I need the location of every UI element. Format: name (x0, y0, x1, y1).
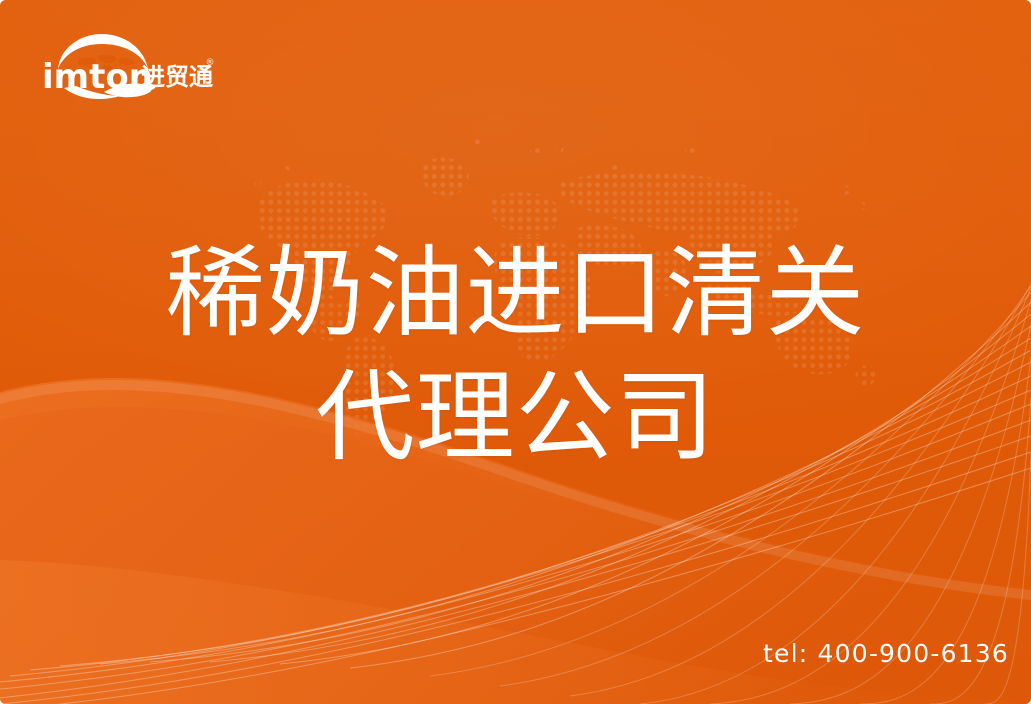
headline-line-2: 代理公司 (0, 356, 1031, 480)
logo-svg: imton 进贸通 ® (38, 26, 218, 100)
promo-banner: imton 进贸通 ® 稀奶油进口清关 代理公司 tel: 400-900-61… (0, 0, 1031, 704)
logo[interactable]: imton 进贸通 ® (38, 26, 218, 100)
registered-trademark-icon: ® (206, 58, 215, 68)
headline-line-1: 稀奶油进口清关 (0, 232, 1031, 356)
contact-telephone[interactable]: tel: 400-900-6136 (763, 639, 1009, 668)
page-title: 稀奶油进口清关 代理公司 (0, 232, 1031, 480)
logo-wordmark: imton (42, 57, 153, 97)
logo-chinese-name: 进贸通 (141, 63, 213, 91)
